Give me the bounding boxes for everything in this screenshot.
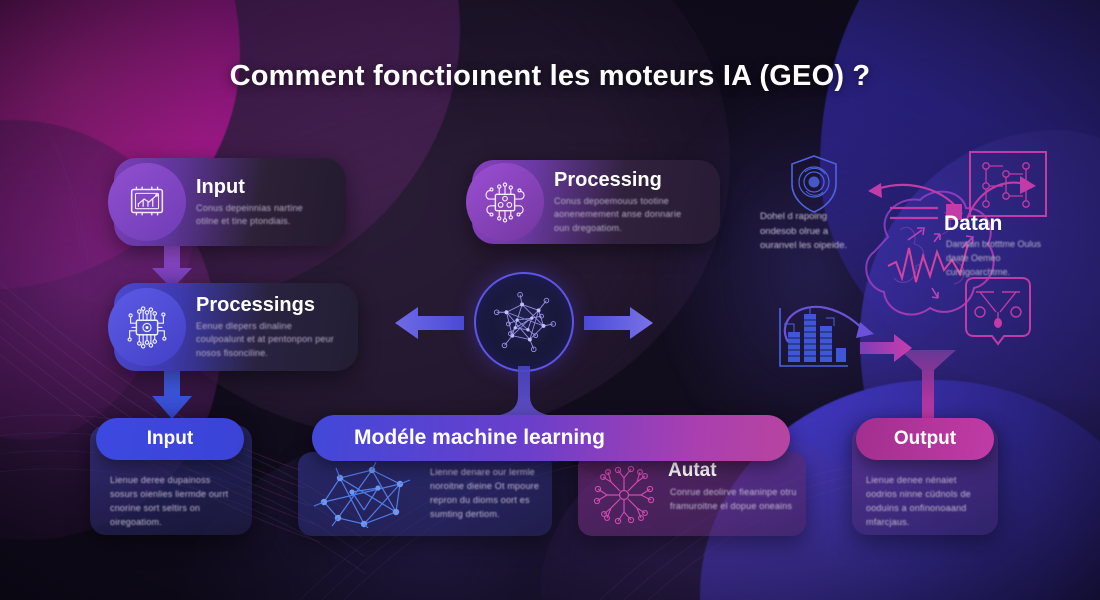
circuit-board-icon	[466, 163, 544, 241]
bottom-card-output-text: Lienue denee nénaiet oodrios ninne cüdno…	[866, 474, 986, 530]
fingerprint-shield-icon	[792, 156, 836, 212]
bottom-card-model-network-text: Lienne denare our lermle noroitne dieine…	[430, 466, 546, 522]
right-cluster-body: Damtain brotttme Oulus daate Oemeo cunsg…	[946, 238, 1064, 280]
card-processing-top-body: Conus depoemouus tootine aonenemement an…	[554, 195, 698, 234]
card-input-top-heading: Input	[196, 176, 324, 198]
radial-burst-icon	[588, 460, 660, 530]
right-cluster: Dohel d rapoing ondesob olrue a ouranvel…	[748, 142, 1092, 392]
node-graph-icon	[312, 462, 416, 528]
bottom-card-input-pill[interactable]: Input	[96, 418, 244, 460]
card-processing-top-heading: Processing	[554, 169, 698, 191]
arrow-left-icon	[392, 303, 466, 343]
right-cluster-left-caption: Dohel d rapoing ondesob olrue a ouranvel…	[760, 210, 860, 254]
bottom-card-model-pill[interactable]: Modéle machine learning	[312, 415, 790, 461]
neural-network-icon	[485, 283, 563, 361]
arrow-right-icon	[582, 303, 656, 343]
card-processings-left-body: Eenue dlepers dinaline coulpoalunt et at…	[196, 320, 336, 359]
right-cluster-heading: Datan	[944, 212, 1002, 236]
arrow-right-icon	[860, 334, 912, 362]
bottom-card-model-subcard-network[interactable]: Lienne denare our lermle noroitne dieine…	[298, 452, 552, 536]
bottom-card-output-pill[interactable]: Output	[856, 418, 994, 460]
arrow-processings-to-input-card	[150, 368, 194, 420]
bottom-card-autat-text: Conrue deolirve fieaninpe otru framuroit…	[670, 486, 798, 514]
card-processing-top[interactable]: Processing Conus depoemouus tootine aone…	[472, 160, 720, 244]
page-title: Comment fonctioınent les moteurs IA (GEO…	[0, 60, 1100, 93]
neural-network-node[interactable]	[474, 272, 574, 372]
bottom-card-autat-heading: Autat	[668, 460, 717, 482]
presentation-chart-icon	[108, 163, 186, 241]
card-input-top-body: Conus depeinnias nartine otilne et tine …	[196, 202, 324, 228]
background-blob-purple-1	[0, 0, 460, 310]
card-input-top[interactable]: Input Conus depeinnias nartine otilne et…	[114, 158, 346, 246]
card-processings-left-heading: Processings	[196, 294, 336, 316]
cpu-chip-icon	[108, 288, 186, 366]
card-processings-left[interactable]: Processings Eenue dlepers dinaline coulp…	[114, 283, 358, 371]
bottom-card-model-subcard-autat[interactable]: Autat Conrue deolirve fieaninpe otru fra…	[578, 452, 806, 536]
bottom-card-input-text: Lienue deree dupainoss sosurs oienlies l…	[110, 474, 236, 530]
background-blob-magenta-1	[0, 0, 240, 290]
infographic-canvas: Comment fonctioınent les moteurs IA (GEO…	[0, 0, 1100, 600]
